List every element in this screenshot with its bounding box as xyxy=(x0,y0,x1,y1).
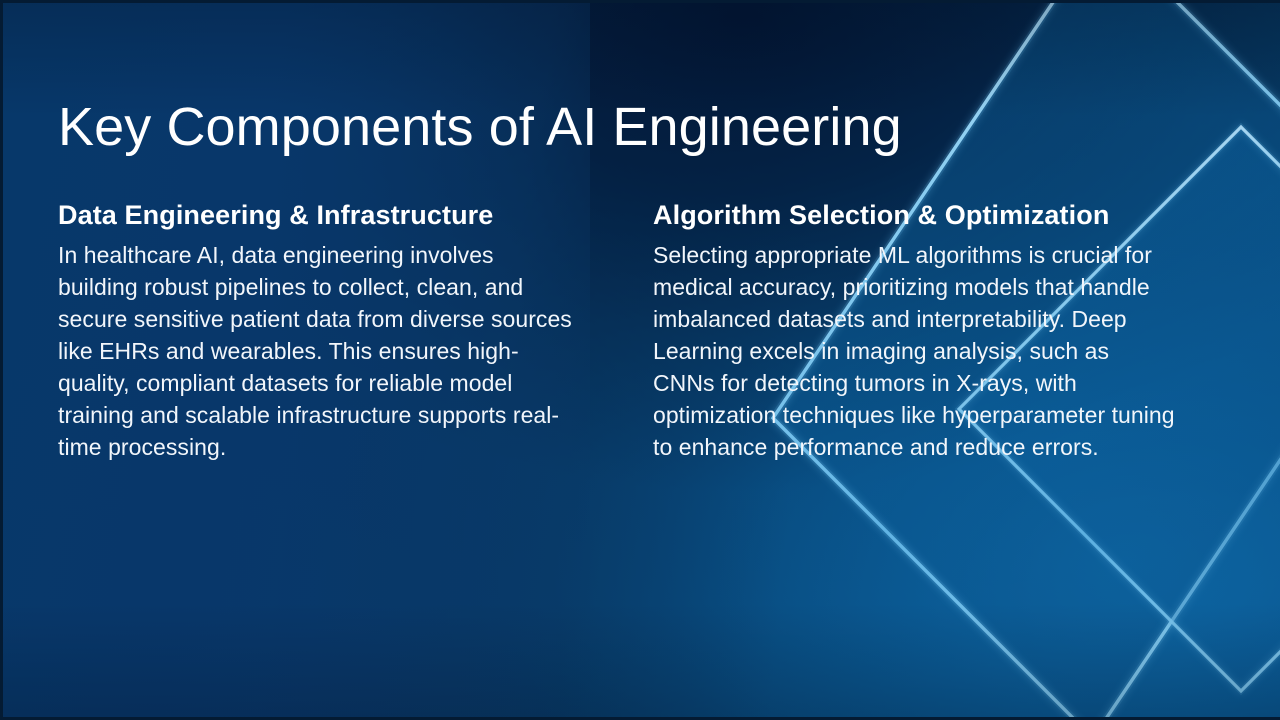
column-body-algorithm-selection: Selecting appropriate ML algorithms is c… xyxy=(653,239,1175,463)
column-heading-algorithm-selection: Algorithm Selection & Optimization xyxy=(653,193,1168,238)
column-heading-data-engineering: Data Engineering & Infrastructure xyxy=(58,193,573,238)
slide-content: Key Components of AI Engineering Data En… xyxy=(3,3,1280,717)
content-column-right: Algorithm Selection & Optimization Selec… xyxy=(653,193,1168,463)
content-column-left: Data Engineering & Infrastructure In hea… xyxy=(58,193,573,463)
slide-canvas: Key Components of AI Engineering Data En… xyxy=(0,0,1280,720)
slide-title: Key Components of AI Engineering xyxy=(58,94,1158,160)
column-body-data-engineering: In healthcare AI, data engineering invol… xyxy=(58,239,573,463)
